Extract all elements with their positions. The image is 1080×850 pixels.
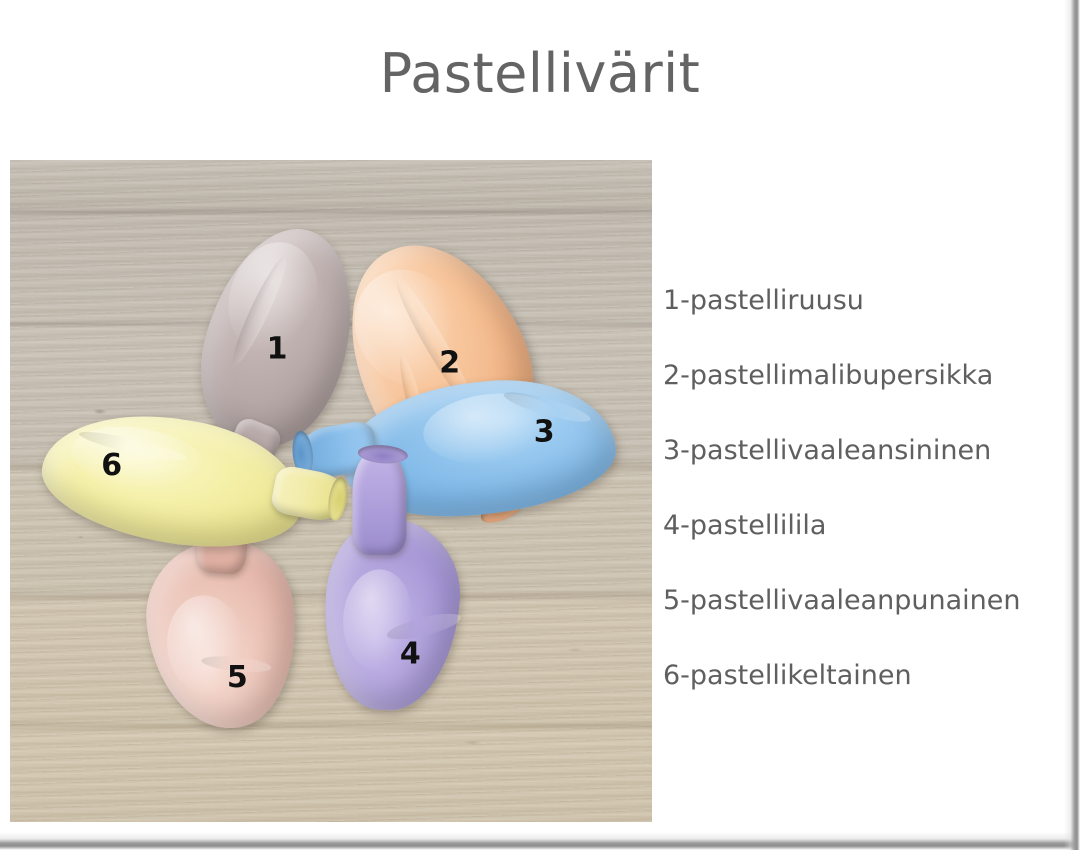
legend-item-6: 6-pastellikeltainen [663, 662, 1063, 689]
color-legend: 1-pastelliruusu 2-pastellimalibupersikka… [663, 287, 1063, 689]
balloon-6-number: 6 [101, 451, 122, 481]
legend-item-4: 4-pastellilila [663, 512, 1063, 539]
balloon-5-number: 5 [227, 663, 248, 693]
legend-item-2: 2-pastellimalibupersikka [663, 362, 1063, 389]
page-frame-right-shadow [1064, 0, 1080, 850]
balloon-4-neck [352, 451, 406, 555]
legend-item-5: 5-pastellivaaleanpunainen [663, 587, 1063, 614]
page-frame-bottom-shadow [0, 832, 1080, 850]
balloon-2-number: 2 [439, 348, 460, 378]
page-title: Pastellivärit [0, 42, 1080, 105]
balloon-4-number: 4 [400, 640, 421, 670]
balloon-1-number: 1 [267, 334, 288, 364]
slide-page: Pastellivärit 1 2 [0, 0, 1080, 850]
balloon-3-number: 3 [534, 417, 555, 447]
legend-item-3: 3-pastellivaaleansininen [663, 437, 1063, 464]
legend-item-1: 1-pastelliruusu [663, 287, 1063, 314]
pastel-balloons-photo: 1 2 3 4 [10, 160, 652, 822]
